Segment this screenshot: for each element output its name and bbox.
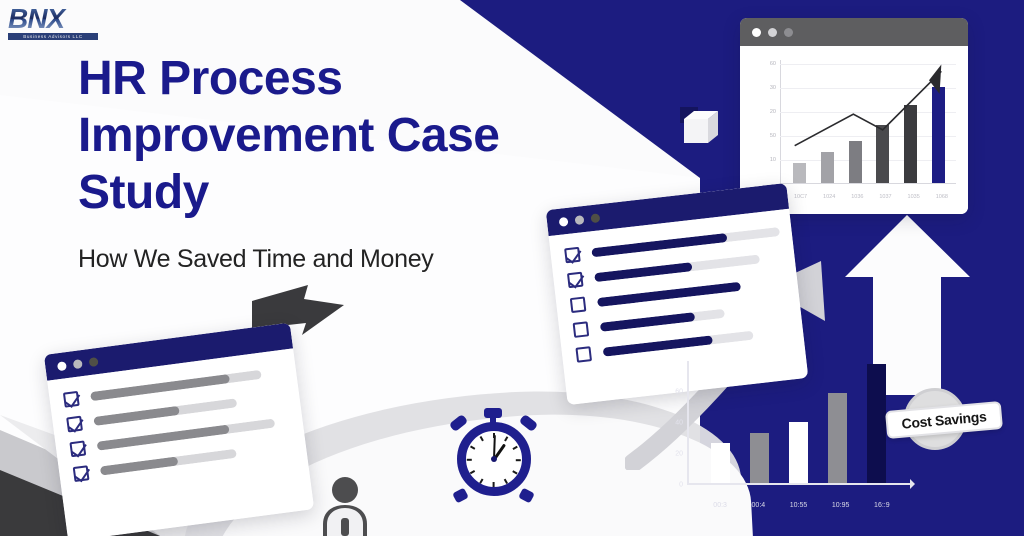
clock-tick [470,446,475,450]
checklist [549,209,804,365]
checkbox-empty-icon[interactable] [575,346,592,363]
window-content [47,348,314,536]
x-tick-label: 16::9 [874,502,890,509]
y-tick-label: 10 [754,157,776,163]
clock-tick [513,446,518,450]
x-tick-label: 10:55 [790,502,808,509]
x-tick-label: 10C7 [794,194,807,200]
window-dot-maximize[interactable] [89,356,99,366]
clock-tick [493,482,495,487]
chart-cost-savings: 0204060 00:300:410:5510:9516::9 [655,355,920,515]
bar [750,433,769,483]
logo-wordmark: BNX [8,6,104,32]
checkbox-empty-icon[interactable] [573,321,590,338]
x-axis-ticks: 00:300:410:5510:9516::9 [701,502,902,509]
x-tick-label: 00:3 [713,502,727,509]
bar [867,364,886,483]
bar-fill [100,456,179,475]
brand-logo[interactable]: BNX Business Advisors LLC [8,6,104,42]
y-tick-label: 20 [665,451,683,458]
x-tick-label: 1035 [908,194,920,200]
bar [711,443,730,483]
y-axis [687,361,689,485]
page-subtitle: How We Saved Time and Money [78,245,548,274]
y-tick-label: 20 [754,109,776,115]
bar-fill [600,312,695,332]
bar [828,393,847,483]
clock-tick [480,436,484,441]
window-dot-close[interactable] [752,28,761,37]
poster-canvas: BNX Business Advisors LLC HR Process Imp… [0,0,1024,536]
window-dot-close[interactable] [57,361,67,371]
clock-body [457,422,531,496]
clock-tick [493,433,495,438]
window-dot-maximize[interactable] [784,28,793,37]
checklist-window-left[interactable] [44,323,314,536]
y-tick-label: 30 [754,85,776,91]
bar-fill [597,282,741,307]
clock-tick [516,459,521,461]
bar-fill [90,374,230,401]
checkbox-checked-icon[interactable] [66,416,83,433]
y-tick-label: 60 [754,61,776,67]
clock-tick [467,459,472,461]
x-tick-label: 1068 [936,194,948,200]
y-tick-label: 0 [665,482,683,489]
x-axis-ticks: 10C710241036103710351068 [786,194,956,200]
checkbox-checked-icon[interactable] [564,247,581,264]
bar-series [701,361,896,483]
cost-chart-plot: 0204060 [687,361,914,485]
window-dot-minimize[interactable] [768,28,777,37]
alarm-clock-icon [448,404,540,500]
bar-fill [93,406,179,426]
window-dot-minimize[interactable] [574,215,584,225]
x-tick-label: 1037 [879,194,891,200]
bar [789,422,808,483]
page-title: HR Process Improvement Case Study [78,50,548,221]
clock-center-pin [491,456,497,462]
status-badge[interactable]: Cost Savings [886,388,1004,450]
bar-fill [97,425,230,451]
window-dot-close[interactable] [559,216,569,226]
bar-fill [603,335,713,356]
checkbox-checked-icon[interactable] [73,465,90,482]
growth-chart-plot: 1050203060 [780,60,956,184]
clock-tick [470,470,475,474]
bar-fill [594,262,693,282]
window-dot-maximize[interactable] [590,213,600,223]
clock-button-top [484,408,502,418]
bar-fill [591,233,727,257]
x-tick-label: 1024 [823,194,835,200]
clock-tick [504,479,508,484]
checkbox-checked-icon[interactable] [567,272,584,289]
window-dot-minimize[interactable] [73,359,83,369]
badge-banner: Cost Savings [885,401,1003,439]
person-avatar-icon [310,474,380,536]
badge-label: Cost Savings [901,408,987,431]
x-tick-label: 1036 [851,194,863,200]
checkbox-checked-icon[interactable] [63,391,80,408]
x-axis [687,483,914,485]
trend-line-overlay [780,60,956,184]
clock-tick [480,479,484,484]
checkbox-checked-icon[interactable] [69,440,86,457]
x-tick-label: 00:4 [752,502,766,509]
window-titlebar [740,18,968,46]
y-tick-label: 40 [665,420,683,427]
checkbox-empty-icon[interactable] [570,296,587,313]
clock-bell-left [449,414,469,432]
clock-face [466,431,522,487]
logo-tagline: Business Advisors LLC [8,33,98,40]
clock-tick [513,470,518,474]
clock-bell-right [519,414,539,432]
clock-tick [504,436,508,441]
y-tick-label: 50 [754,133,776,139]
y-tick-label: 60 [665,389,683,396]
x-tick-label: 10:95 [832,502,850,509]
cube-3d-white [676,101,722,149]
